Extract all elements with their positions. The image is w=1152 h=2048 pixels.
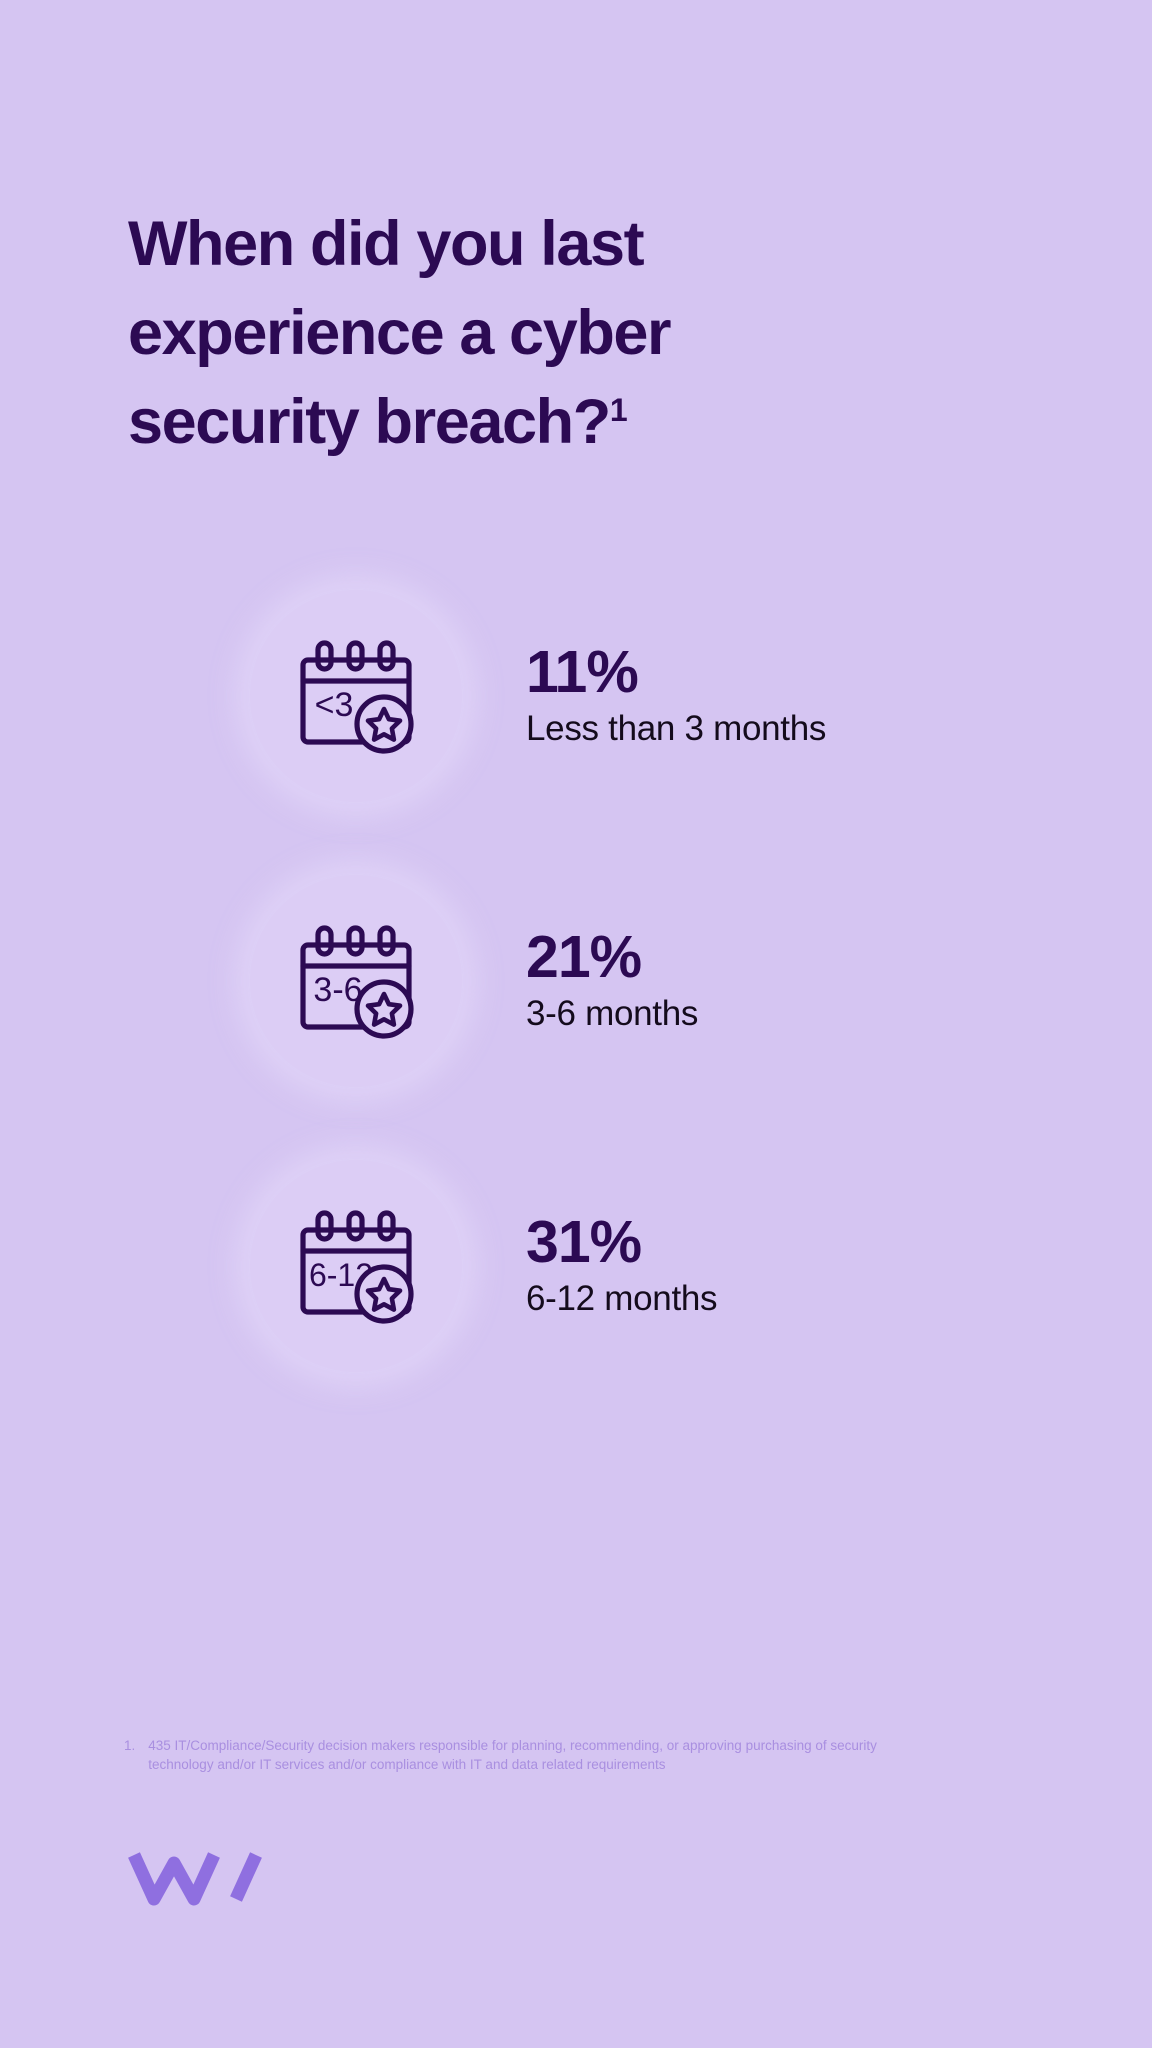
stat-text-block: 31% 6-12 months [526, 1212, 717, 1321]
footnote: 1. 435 IT/Compliance/Security decision m… [124, 1736, 914, 1774]
stat-row: 3-6 21% 3-6 months [128, 875, 1028, 1087]
title-heading: When did you last experience a cyber sec… [128, 200, 948, 467]
calendar-star-icon: 3-6 [294, 919, 418, 1043]
calendar-star-icon: <3 [294, 634, 418, 758]
stat-value: 11% [526, 642, 826, 702]
stat-label: 6-12 months [526, 1277, 717, 1321]
stat-value: 21% [526, 927, 698, 987]
stat-text-block: 21% 3-6 months [526, 927, 698, 1036]
stat-value: 31% [526, 1212, 717, 1272]
star-badge-circle [357, 697, 411, 751]
infographic-page: When did you last experience a cyber sec… [0, 0, 1152, 2048]
title-line-1: When did you last [128, 209, 643, 279]
calendar-star-icon: 6-12 [294, 1204, 418, 1328]
brand-logo [128, 1845, 278, 1909]
stat-row: 6-12 31% 6-12 months [128, 1160, 1028, 1372]
footnote-text: 435 IT/Compliance/Security decision make… [148, 1736, 914, 1774]
stat-label: Less than 3 months [526, 707, 826, 751]
page-title: When did you last experience a cyber sec… [128, 200, 948, 467]
logo-w-mark [134, 1855, 214, 1899]
stat-row: <3 11% Less than 3 months [128, 590, 1028, 802]
logo-slash-mark [236, 1855, 256, 1899]
footnote-number: 1. [124, 1736, 135, 1774]
stats-list: <3 11% Less than 3 months [128, 590, 1028, 1372]
stat-icon-container: <3 [250, 590, 462, 802]
star-badge-circle [357, 982, 411, 1036]
title-footnote-ref: 1 [610, 392, 628, 428]
stat-text-block: 11% Less than 3 months [526, 642, 826, 751]
star-badge-circle [357, 1267, 411, 1321]
title-line-2: experience a cyber [128, 298, 670, 368]
calendar-range-text: <3 [315, 686, 354, 724]
stat-icon-container: 3-6 [250, 875, 462, 1087]
stat-label: 3-6 months [526, 992, 698, 1036]
title-line-3: security breach? [128, 387, 610, 457]
stat-icon-container: 6-12 [250, 1160, 462, 1372]
